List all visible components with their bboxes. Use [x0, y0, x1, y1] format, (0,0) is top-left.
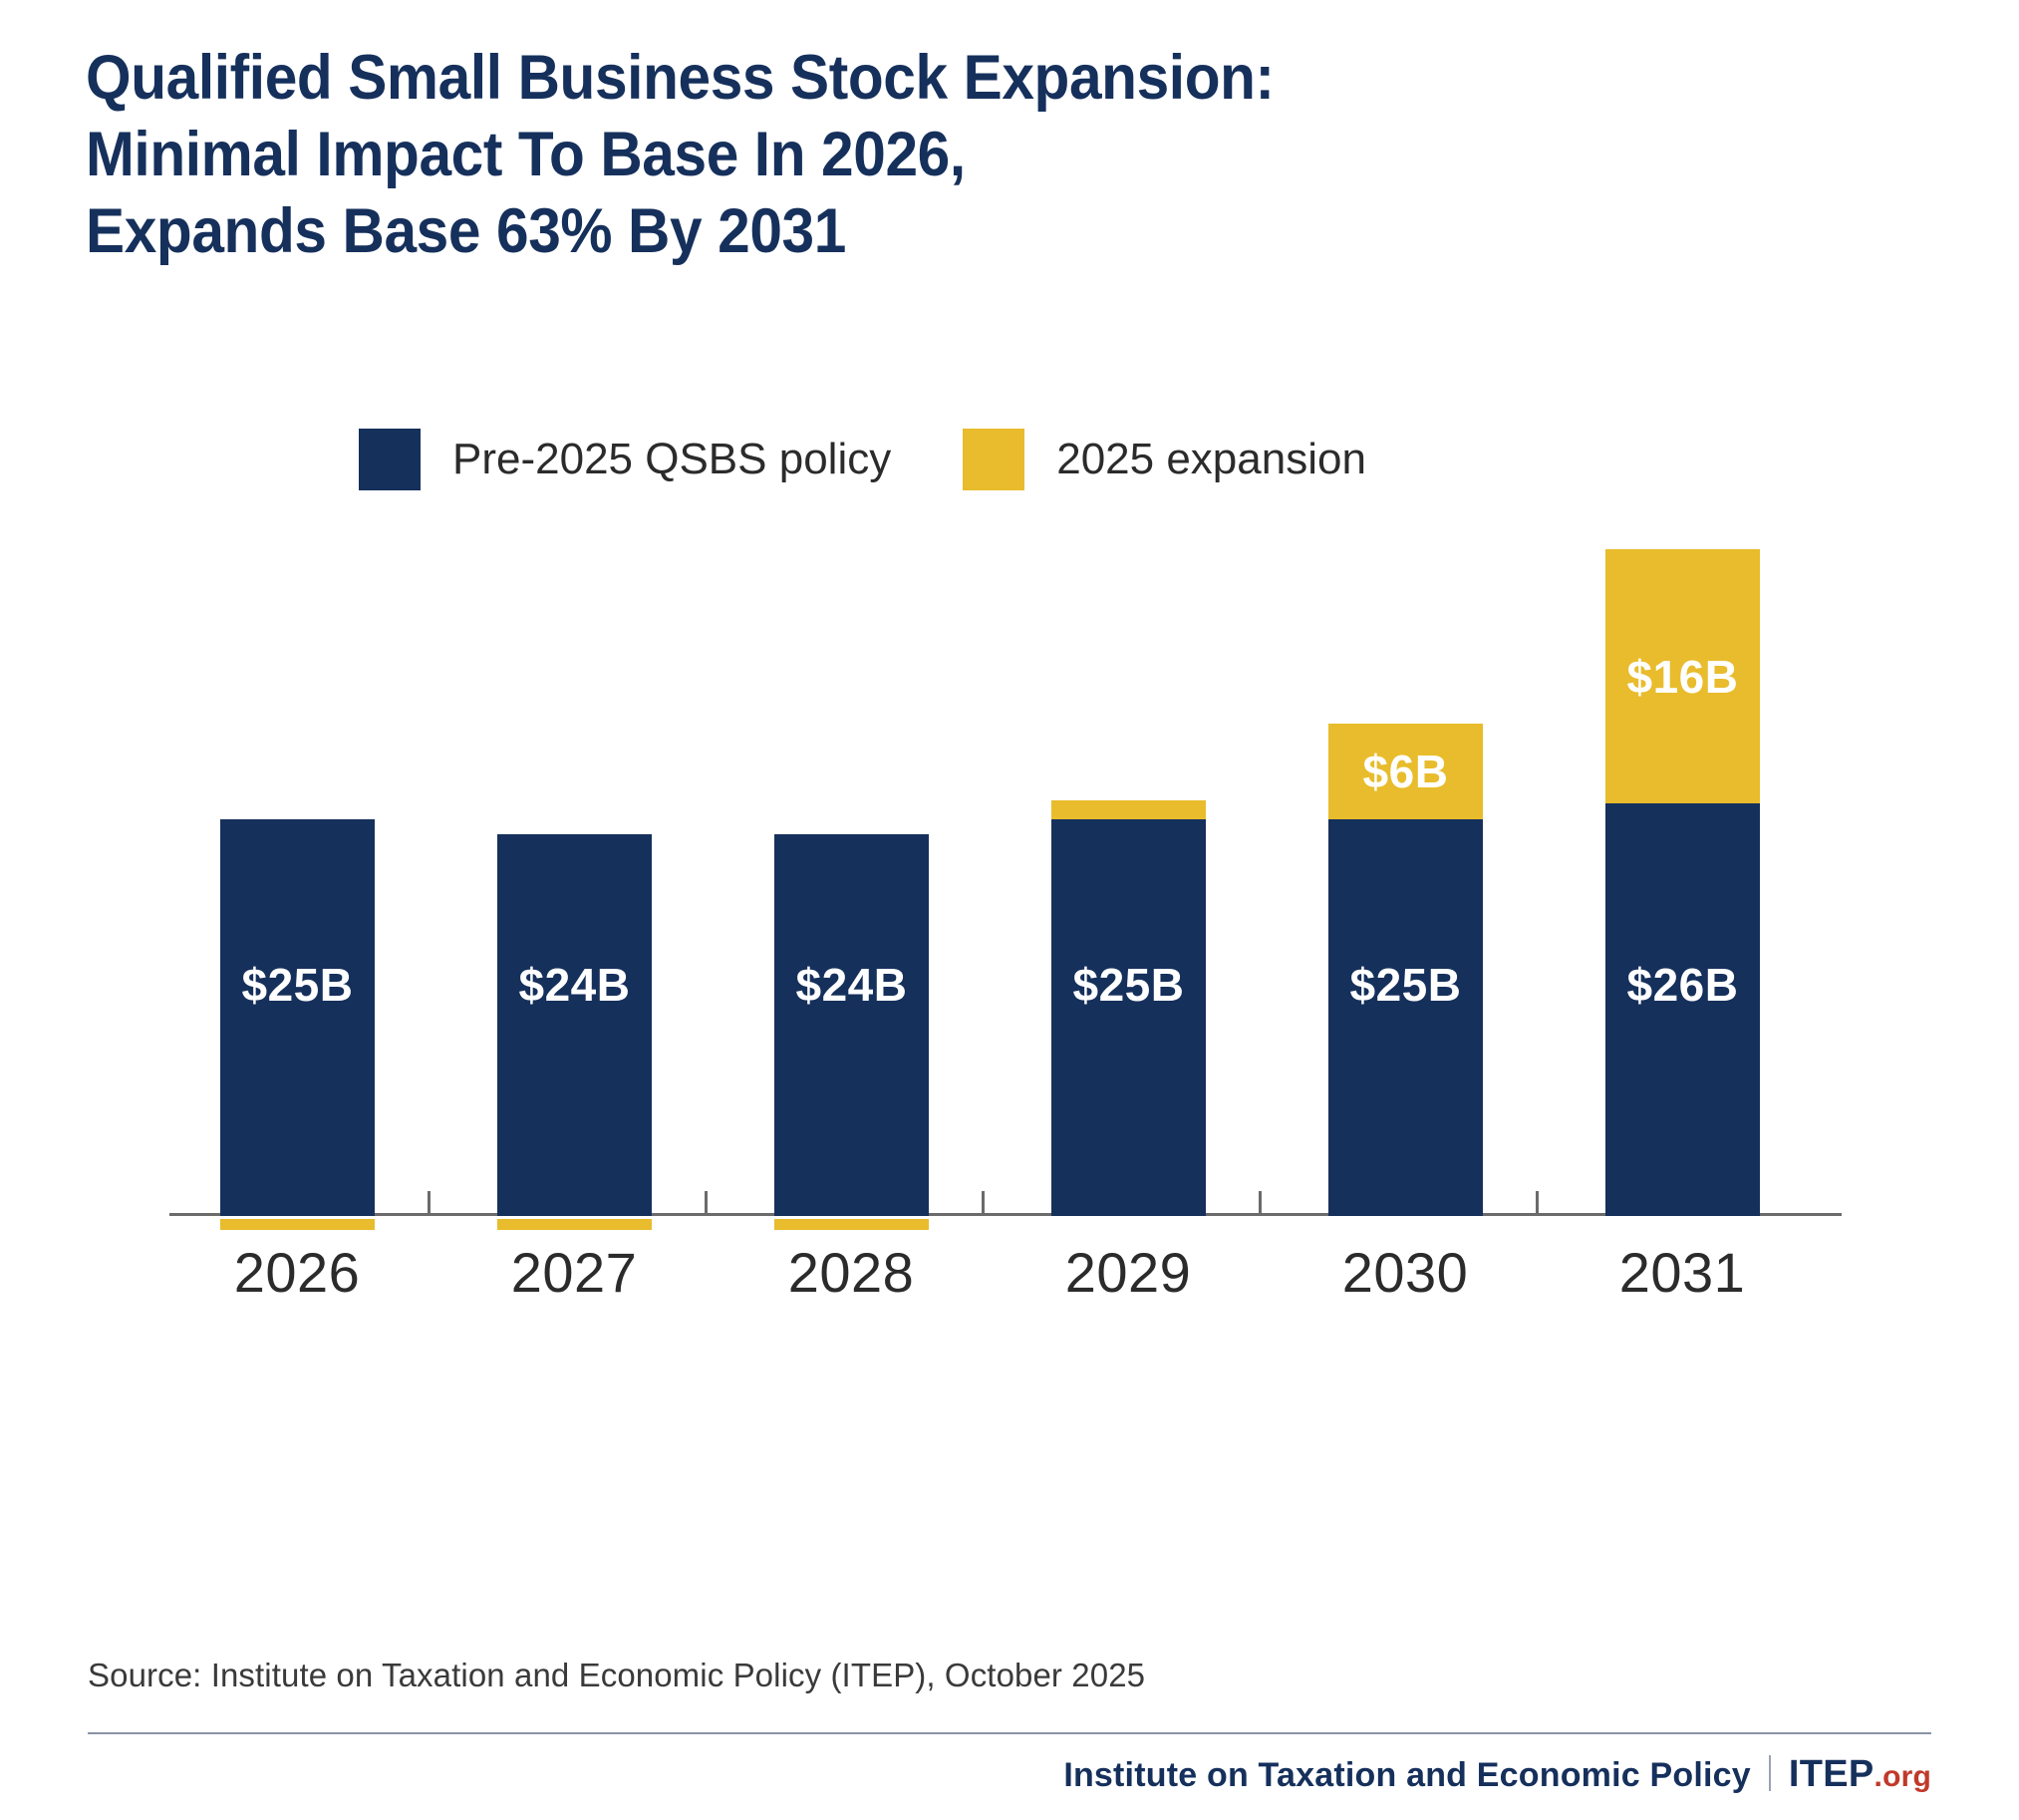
chart-legend: Pre-2025 QSBS policy 2025 expansion — [359, 429, 1366, 490]
legend-item-pre-2025-qsbs-policy[interactable]: Pre-2025 QSBS policy — [359, 429, 891, 490]
bar-group-2028[interactable]: $24B — [774, 834, 929, 1216]
bar-segment-navy-2026[interactable]: $25B — [220, 819, 375, 1216]
legend-swatch-gold-icon — [963, 429, 1024, 490]
x-axis-label-2030: 2030 — [1286, 1240, 1525, 1305]
footer-pipe-icon — [1769, 1755, 1771, 1791]
legend-swatch-navy-icon — [359, 429, 421, 490]
bar-group-2031[interactable]: $16B $26B — [1605, 549, 1760, 1216]
bar-group-2029[interactable]: $1B $25B — [1051, 800, 1206, 1216]
footer-brand-itep[interactable]: ITEP — [1789, 1753, 1875, 1796]
bar-value-label-navy-2027: $24B — [519, 958, 631, 1012]
x-axis-label-2031: 2031 — [1563, 1240, 1802, 1305]
bar-value-label-gold-2030: $6B — [1363, 745, 1449, 798]
x-axis-label-2029: 2029 — [1009, 1240, 1248, 1305]
title-line-3: Expands Base 63% By 2031 — [86, 193, 1754, 270]
legend-label-2025-expansion: 2025 expansion — [1056, 435, 1366, 484]
axis-tick — [982, 1191, 985, 1213]
legend-label-pre-2025-qsbs-policy: Pre-2025 QSBS policy — [452, 435, 891, 484]
footer-branding: Institute on Taxation and Economic Polic… — [1063, 1750, 1931, 1796]
bar-segment-gold-2030[interactable]: $6B — [1328, 724, 1483, 819]
bar-segment-gold-2027[interactable] — [497, 1219, 652, 1230]
bar-group-2026[interactable]: $25B — [220, 819, 375, 1216]
bar-segment-gold-2028[interactable] — [774, 1219, 929, 1230]
footer-divider-rule — [88, 1732, 1931, 1734]
bar-value-label-navy-2028: $24B — [796, 958, 908, 1012]
x-axis-line — [169, 1213, 1842, 1216]
bar-value-label-navy-2030: $25B — [1350, 958, 1462, 1012]
bar-segment-navy-2029[interactable]: $25B — [1051, 819, 1206, 1216]
axis-tick — [705, 1191, 708, 1213]
footer-organization-name: Institute on Taxation and Economic Polic… — [1063, 1756, 1751, 1795]
x-axis-label-2028: 2028 — [731, 1240, 971, 1305]
legend-item-2025-expansion[interactable]: 2025 expansion — [963, 429, 1366, 490]
bar-group-2027[interactable]: $24B — [497, 834, 652, 1216]
bar-segment-navy-2031[interactable]: $26B — [1605, 803, 1760, 1216]
source-note: Source: Institute on Taxation and Econom… — [88, 1657, 1145, 1694]
bar-value-label-gold-2031: $16B — [1627, 650, 1739, 704]
plot-area: $25B $24B $24B $1B $25B $6B $25B — [177, 558, 1842, 1216]
x-axis-label-2026: 2026 — [177, 1240, 417, 1305]
bar-group-2030[interactable]: $6B $25B — [1328, 724, 1483, 1216]
bar-segment-gold-2031[interactable]: $16B — [1605, 549, 1760, 803]
chart-title: Qualified Small Business Stock Expansion… — [86, 40, 1879, 270]
axis-tick — [428, 1191, 431, 1213]
bar-segment-gold-2026[interactable] — [220, 1219, 375, 1230]
axis-tick — [1259, 1191, 1262, 1213]
bar-segment-gold-2029[interactable]: $1B — [1051, 800, 1206, 819]
title-line-1: Qualified Small Business Stock Expansion… — [86, 40, 1754, 117]
bar-value-label-navy-2026: $25B — [242, 958, 354, 1012]
bar-segment-navy-2028[interactable]: $24B — [774, 834, 929, 1216]
bar-segment-navy-2027[interactable]: $24B — [497, 834, 652, 1216]
bar-value-label-navy-2031: $26B — [1627, 958, 1739, 1012]
bar-segment-navy-2030[interactable]: $25B — [1328, 819, 1483, 1216]
footer-brand-tld[interactable]: .org — [1875, 1760, 1931, 1794]
x-axis-label-2027: 2027 — [454, 1240, 694, 1305]
axis-tick — [1536, 1191, 1539, 1213]
bar-value-label-navy-2029: $25B — [1073, 958, 1185, 1012]
title-line-2: Minimal Impact To Base In 2026, — [86, 117, 1754, 193]
x-axis-labels: 2026 2027 2028 2029 2030 2031 — [177, 1240, 1842, 1310]
